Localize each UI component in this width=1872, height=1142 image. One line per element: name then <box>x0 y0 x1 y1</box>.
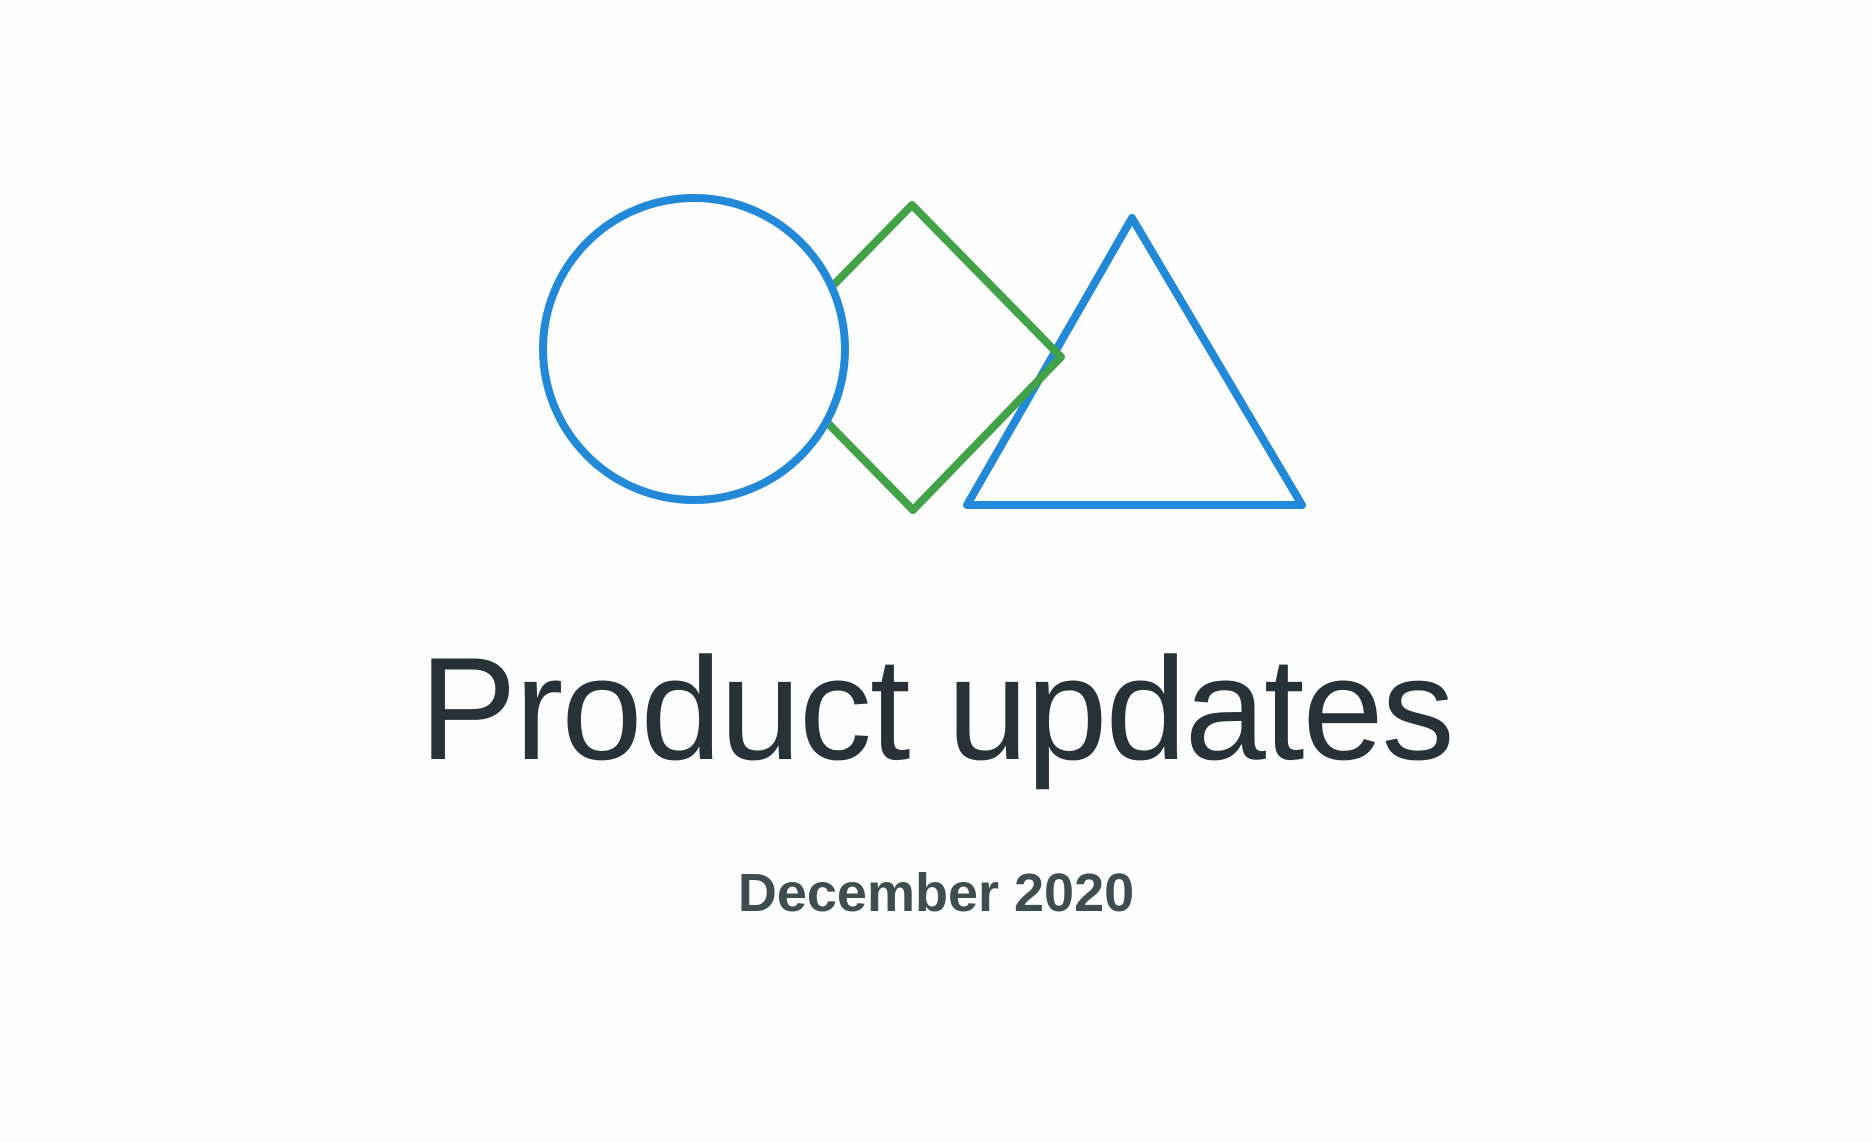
triangle-shape <box>967 218 1302 505</box>
page-title: Product updates <box>0 636 1872 782</box>
slide-root: Product updates December 2020 <box>0 0 1872 1142</box>
circle-shape <box>543 198 845 500</box>
logo <box>0 0 1872 560</box>
page-subtitle: December 2020 <box>0 866 1872 920</box>
geometric-shapes-logo-svg <box>0 0 1872 560</box>
